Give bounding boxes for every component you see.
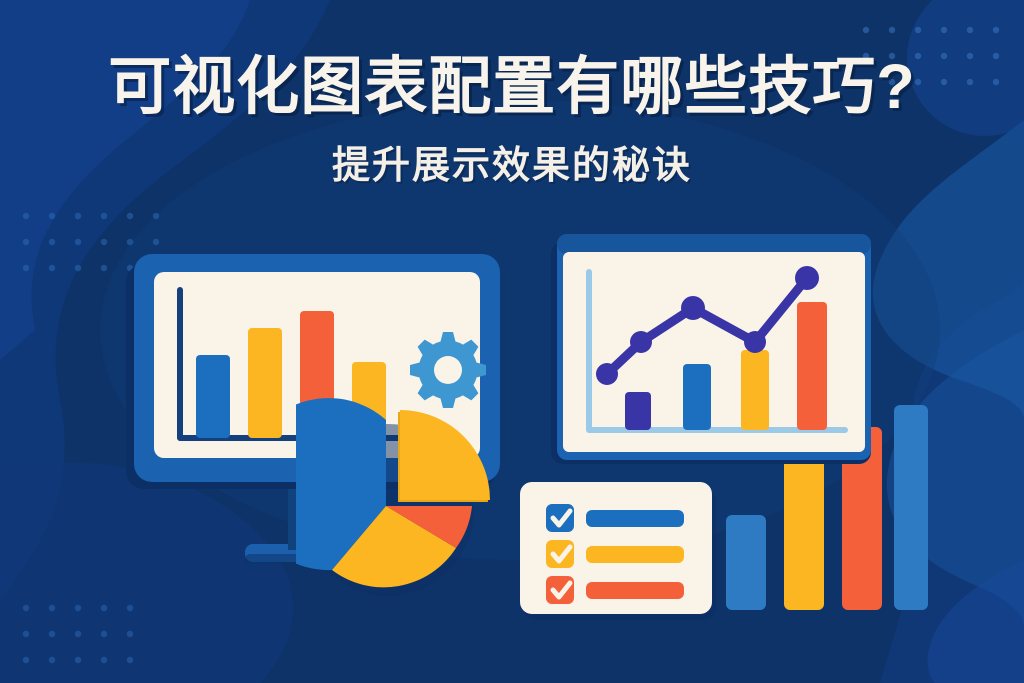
list-item-bar-blue [586, 510, 684, 527]
checkbox-yellow[interactable] [546, 540, 574, 568]
right-bar-1 [726, 515, 766, 610]
checkbox-blue[interactable] [546, 504, 574, 532]
checkbox-orange[interactable] [546, 576, 574, 604]
panel-bar-1 [625, 392, 651, 430]
poster-canvas: 可视化图表配置有哪些技巧? 提升展示效果的秘诀 [0, 0, 1024, 683]
monitor-bar-2 [248, 328, 282, 438]
panel-bar-2 [683, 364, 711, 430]
pie-slice-yellow-exploded [398, 410, 490, 502]
page-subtitle: 提升展示效果的秘诀 [0, 134, 1024, 189]
panel-header-bar [557, 234, 871, 254]
line-chart-panel [545, 232, 875, 472]
pie-chart [296, 398, 496, 603]
gear-icon [410, 332, 486, 408]
right-bar-4 [894, 405, 928, 610]
list-item-bar-yellow [586, 546, 684, 563]
panel-bar-4 [797, 302, 827, 430]
right-bar-2 [784, 457, 824, 610]
panel-bar-3 [741, 350, 769, 430]
monitor-bar-1 [196, 355, 230, 438]
list-item-bar-orange [586, 582, 684, 599]
checklist-card[interactable] [518, 480, 718, 620]
page-title: 可视化图表配置有哪些技巧? [0, 54, 1024, 120]
title-block: 可视化图表配置有哪些技巧? 提升展示效果的秘诀 [0, 54, 1024, 189]
